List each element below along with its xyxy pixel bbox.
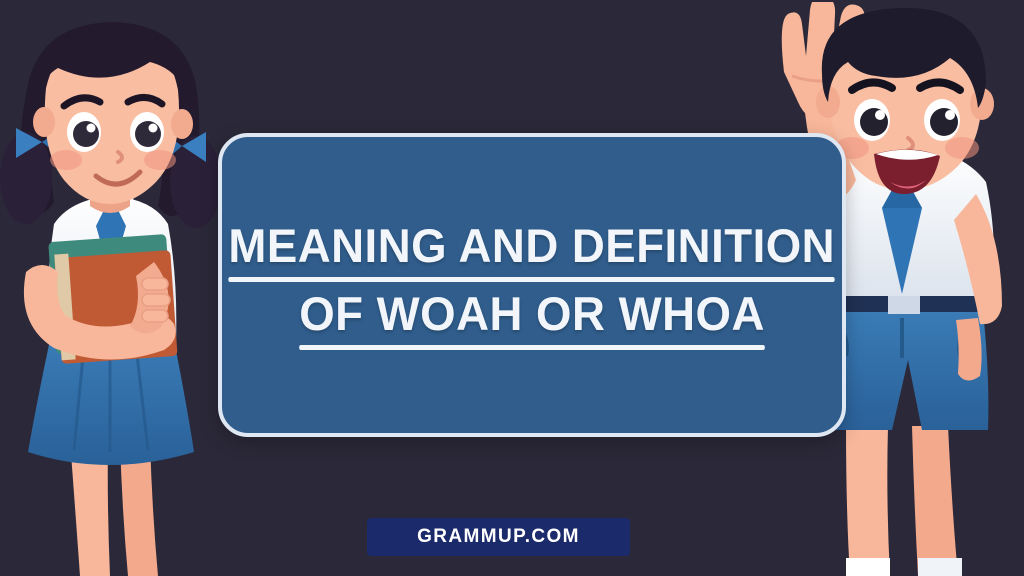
thumbnail-canvas: MEANING AND DEFINITION OF WOAH OR WHOA G… bbox=[0, 0, 1024, 576]
title-card: MEANING AND DEFINITION OF WOAH OR WHOA bbox=[218, 133, 846, 437]
site-badge-label: GRAMMUP.COM bbox=[417, 526, 580, 548]
title-line-2: OF WOAH OR WHOA bbox=[299, 288, 765, 350]
title-line-1: MEANING AND DEFINITION bbox=[229, 220, 836, 282]
schoolgirl-illustration bbox=[0, 10, 232, 576]
site-badge[interactable]: GRAMMUP.COM bbox=[367, 518, 630, 556]
